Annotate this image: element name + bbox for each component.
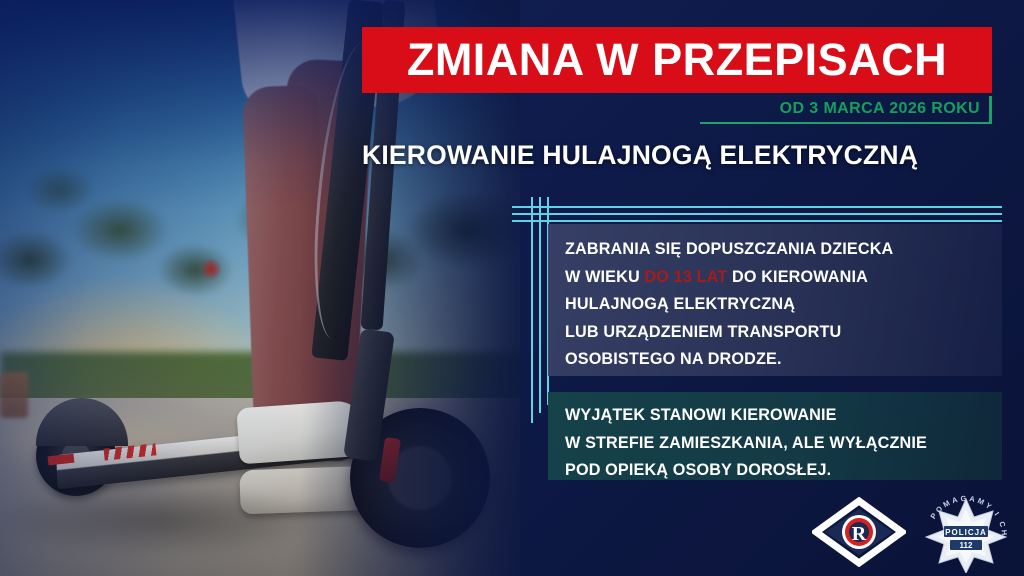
effective-date-label: OD 3 MARCA 2026 ROKU: [780, 100, 989, 118]
exception-line-3: POD OPIEKĄ OSOBY DOROSŁEJ.: [565, 458, 1002, 484]
prohibition-line-1: ZABRANIA SIĘ DOPUSZCZANIA DZIECKA: [565, 237, 1002, 263]
prohibition-line-2-post: DO KIEROWANIA: [727, 268, 868, 286]
exception-line-1: WYJĄTEK STANOWI KIEROWANIE: [565, 403, 1002, 429]
diamond-r-icon: R: [812, 497, 906, 567]
prohibition-line-5: OSOBISTEGO NA DRODZE.: [565, 347, 1002, 373]
police-star-icon: POLICJA 112 POMAGAMY I CHRONIMY: [920, 493, 1012, 573]
decorative-grid-hline-3: [512, 220, 1002, 222]
subtitle: KIEROWANIE HULAJNOGĄ ELEKTRYCZNĄ: [362, 138, 1002, 172]
exception-line-2: W STREFIE ZAMIESZKANIA, ALE WYŁĄCZNIE: [565, 431, 1002, 457]
page-title: ZMIANA W PRZEPISACH: [407, 34, 947, 86]
svg-text:R: R: [852, 523, 867, 545]
effective-date: OD 3 MARCA 2026 ROKU: [700, 96, 992, 124]
roadside-bollard: [0, 372, 28, 418]
prohibition-text-block: ZABRANIA SIĘ DOPUSZCZANIA DZIECKA W WIEK…: [548, 224, 1002, 376]
lens-flare-dot: [200, 258, 222, 280]
decorative-grid-vline-2: [539, 197, 541, 413]
police-label: POLICJA: [945, 528, 987, 537]
prohibition-line-2: W WIEKU DO 13 LAT DO KIEROWANIA: [565, 265, 1002, 291]
age-limit-highlight: DO 13 LAT: [644, 268, 727, 286]
polish-police-star-logo: POLICJA 112 POMAGAMY I CHRONIMY: [920, 493, 1012, 573]
traffic-police-diamond-r-logo: R: [812, 497, 906, 567]
decorative-grid-vline-1: [531, 197, 533, 423]
emergency-number-label: 112: [960, 541, 973, 550]
decorative-grid-hline-2: [512, 213, 1002, 215]
subtitle-label: KIEROWANIE HULAJNOGĄ ELEKTRYCZNĄ: [362, 140, 918, 171]
prohibition-line-2-pre: W WIEKU: [565, 268, 644, 286]
prohibition-line-3-text: HULAJNOGĄ ELEKTRYCZNĄ: [565, 295, 795, 313]
title-banner: ZMIANA W PRZEPISACH: [362, 27, 992, 93]
exception-text-block: WYJĄTEK STANOWI KIEROWANIE W STREFIE ZAM…: [548, 392, 1002, 480]
prohibition-line-5-text: OSOBISTEGO NA DRODZE.: [565, 350, 782, 368]
prohibition-line-4: LUB URZĄDZENIEM TRANSPORTU: [565, 320, 1002, 346]
decorative-grid-hline-1: [512, 206, 1002, 208]
prohibition-line-1-text: ZABRANIA SIĘ DOPUSZCZANIA DZIECKA: [565, 240, 893, 258]
poster-root: ZMIANA W PRZEPISACH OD 3 MARCA 2026 ROKU…: [0, 0, 1024, 576]
prohibition-line-4-text: LUB URZĄDZENIEM TRANSPORTU: [565, 323, 841, 341]
prohibition-line-3: HULAJNOGĄ ELEKTRYCZNĄ: [565, 292, 1002, 318]
ground-shadow: [0, 470, 450, 576]
